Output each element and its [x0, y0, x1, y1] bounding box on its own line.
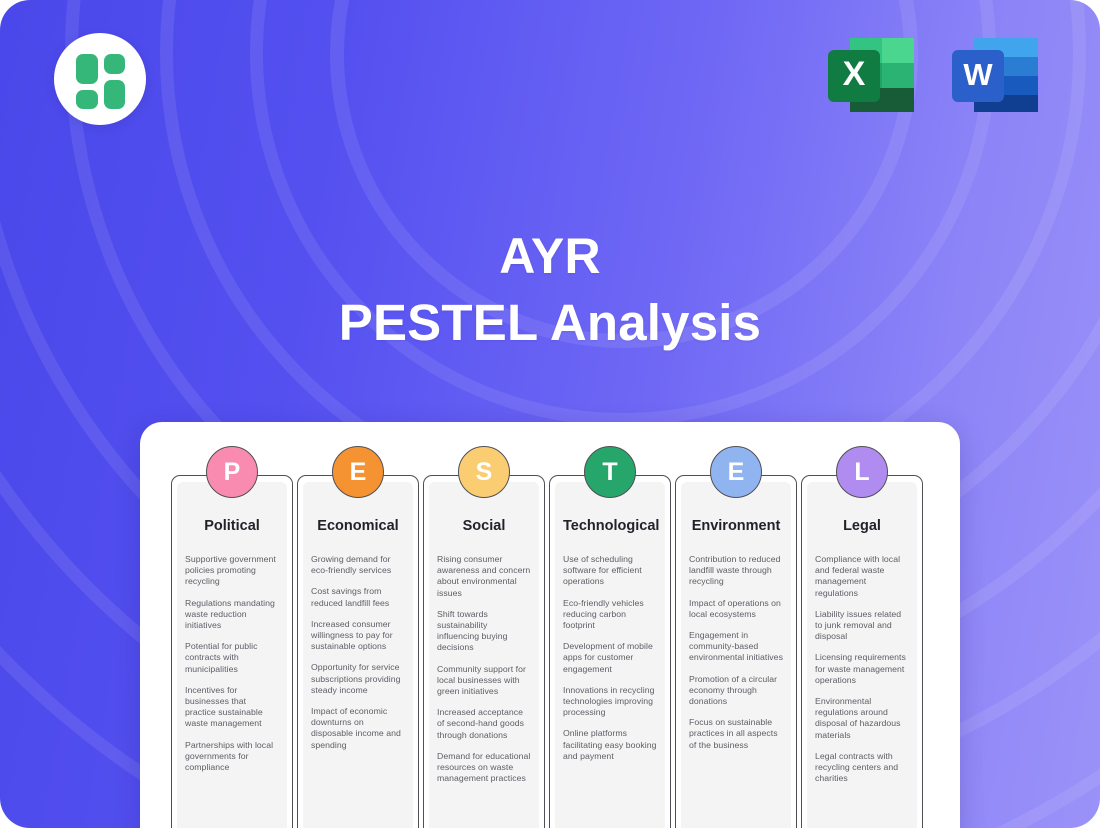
pestel-card: PPoliticalSupportive government policies…	[140, 422, 960, 828]
pestel-column[interactable]: PPoliticalSupportive government policies…	[171, 475, 293, 828]
pestel-item-list: Use of scheduling software for efficient…	[563, 554, 657, 762]
pestel-column-panel: TechnologicalUse of scheduling software …	[555, 482, 665, 828]
pestel-column[interactable]: EEnvironmentContribution to reduced land…	[675, 475, 797, 828]
pestel-column[interactable]: SSocialRising consumer awareness and con…	[423, 475, 545, 828]
pestel-column-panel: PoliticalSupportive government policies …	[177, 482, 287, 828]
pestel-column[interactable]: LLegalCompliance with local and federal …	[801, 475, 923, 828]
pestel-item: Incentives for businesses that practice …	[185, 685, 279, 730]
pestel-item: Use of scheduling software for efficient…	[563, 554, 657, 588]
logo-square-4	[104, 80, 125, 109]
pestel-item: Compliance with local and federal waste …	[815, 554, 909, 599]
title-line-1: AYR	[0, 228, 1100, 284]
pestel-item: Demand for educational resources on wast…	[437, 751, 531, 785]
pestel-item: Increased acceptance of second-hand good…	[437, 707, 531, 741]
pestel-item: Rising consumer awareness and concern ab…	[437, 554, 531, 599]
pestel-column-panel: LegalCompliance with local and federal w…	[807, 482, 917, 828]
pestel-item: Opportunity for service subscriptions pr…	[311, 662, 405, 696]
pestel-item: Potential for public contracts with muni…	[185, 641, 279, 675]
pestel-item: Increased consumer willingness to pay fo…	[311, 619, 405, 653]
title-line-2: PESTEL Analysis	[0, 292, 1100, 354]
pestel-item-list: Contribution to reduced landfill waste t…	[689, 554, 783, 751]
pestel-item: Impact of operations on local ecosystems	[689, 598, 783, 620]
pestel-item: Online platforms facilitating easy booki…	[563, 728, 657, 762]
logo-square-1	[76, 54, 98, 84]
pestel-letter-badge: L	[836, 446, 888, 498]
pestel-column[interactable]: TTechnologicalUse of scheduling software…	[549, 475, 671, 828]
page-title: AYR PESTEL Analysis	[0, 228, 1100, 354]
pestel-column-heading: Social	[437, 518, 531, 534]
pestel-column-heading: Economical	[311, 518, 405, 534]
pestel-columns: PPoliticalSupportive government policies…	[171, 475, 929, 828]
pestel-item: Community support for local businesses w…	[437, 664, 531, 698]
pestel-column-panel: EnvironmentContribution to reduced landf…	[681, 482, 791, 828]
pestel-item-list: Rising consumer awareness and concern ab…	[437, 554, 531, 784]
pestel-item: Impact of economic downturns on disposab…	[311, 706, 405, 751]
slide-root: X W AYR PESTEL Analysis PPoliticalSuppor…	[0, 0, 1100, 828]
logo-square-3	[76, 90, 98, 109]
pestel-column-heading: Political	[185, 518, 279, 534]
pestel-item-list: Growing demand for eco-friendly services…	[311, 554, 405, 751]
pestel-item: Shift towards sustainability influencing…	[437, 609, 531, 654]
pestel-item: Focus on sustainable practices in all as…	[689, 717, 783, 751]
pestel-item: Innovations in recycling technologies im…	[563, 685, 657, 719]
pestel-item-list: Supportive government policies promoting…	[185, 554, 279, 773]
pestel-column-panel: EconomicalGrowing demand for eco-friendl…	[303, 482, 413, 828]
pestel-item-list: Compliance with local and federal waste …	[815, 554, 909, 784]
pestel-item: Eco-friendly vehicles reducing carbon fo…	[563, 598, 657, 632]
grid-squares-logo-icon	[54, 33, 146, 125]
pestel-item: Cost savings from reduced landfill fees	[311, 586, 405, 608]
pestel-letter-badge: P	[206, 446, 258, 498]
word-icon-letter: W	[963, 57, 993, 92]
pestel-column[interactable]: EEconomicalGrowing demand for eco-friend…	[297, 475, 419, 828]
pestel-item: Environmental regulations around disposa…	[815, 696, 909, 741]
pestel-item: Growing demand for eco-friendly services	[311, 554, 405, 576]
pestel-item: Engagement in community-based environmen…	[689, 630, 783, 664]
pestel-column-heading: Technological	[563, 518, 657, 534]
pestel-item: Licensing requirements for waste managem…	[815, 652, 909, 686]
pestel-column-panel: SocialRising consumer awareness and conc…	[429, 482, 539, 828]
pestel-letter-badge: E	[710, 446, 762, 498]
pestel-item: Regulations mandating waste reduction in…	[185, 598, 279, 632]
pestel-column-heading: Legal	[815, 518, 909, 534]
pestel-item: Legal contracts with recycling centers a…	[815, 751, 909, 785]
pestel-letter-badge: T	[584, 446, 636, 498]
pestel-column-heading: Environment	[689, 518, 783, 534]
excel-icon[interactable]: X	[822, 26, 920, 124]
pestel-item: Promotion of a circular economy through …	[689, 674, 783, 708]
pestel-item: Liability issues related to junk removal…	[815, 609, 909, 643]
word-icon[interactable]: W	[946, 26, 1044, 124]
pestel-letter-badge: E	[332, 446, 384, 498]
pestel-item: Partnerships with local governments for …	[185, 740, 279, 774]
pestel-item: Development of mobile apps for customer …	[563, 641, 657, 675]
pestel-letter-badge: S	[458, 446, 510, 498]
pestel-item: Contribution to reduced landfill waste t…	[689, 554, 783, 588]
logo-square-2	[104, 54, 125, 74]
excel-icon-letter: X	[843, 55, 866, 93]
pestel-item: Supportive government policies promoting…	[185, 554, 279, 588]
